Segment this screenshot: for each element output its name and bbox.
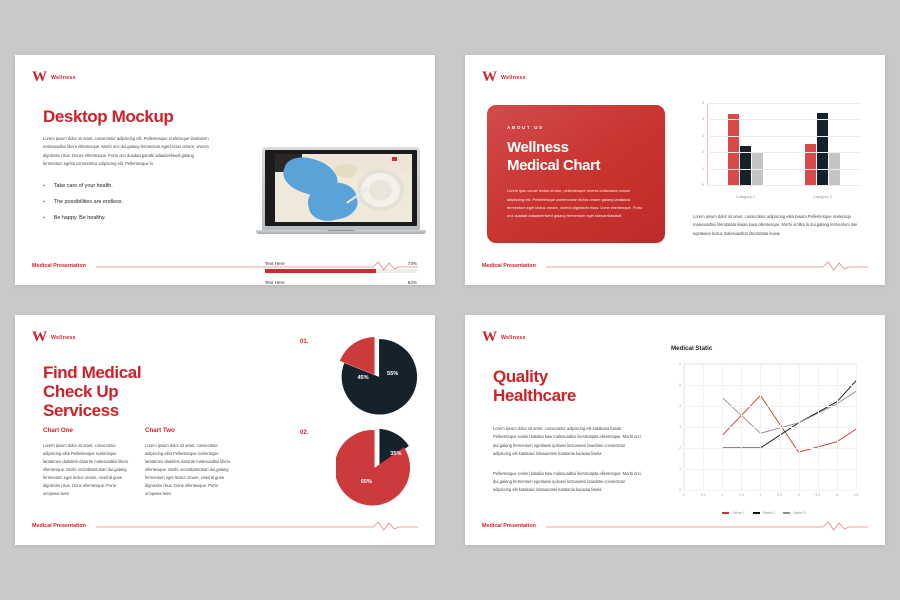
line-chart-y-tick: 3 — [679, 425, 681, 429]
bar-chart-gridline — [707, 103, 861, 104]
pie-chart-group: 01. 45% 55% 02. 65% — [300, 333, 425, 515]
bullet-label: Take care of your health. — [54, 183, 113, 189]
laptop-mockup — [262, 147, 420, 234]
line-chart-gridline — [703, 364, 704, 490]
photo-watermark — [392, 157, 397, 161]
bar-chart-gridline — [707, 152, 861, 153]
pie-chart-svg — [336, 335, 418, 417]
line-chart-x-tick: 0.5 — [701, 493, 706, 497]
chart-two-paragraph: Lorem ipsum dolor sit amet, consectetur … — [145, 442, 233, 498]
slide4-text-block: Lorem ipsum dolor sit amet, consectetur … — [493, 425, 643, 495]
brand-logo: W Wellness — [32, 70, 76, 85]
about-us-card: ABOUT US Wellness Medical Chart Lorem ip… — [487, 105, 665, 243]
brand-logo: W Wellness — [482, 330, 526, 345]
line-chart: Medical Static 012345600.511.522.533.544… — [665, 345, 863, 517]
slide-footer: Medical Presentation — [482, 521, 868, 531]
bar-chart-gridline — [707, 119, 861, 120]
bar-chart-category-labels: Category 1 Category 2 — [707, 194, 861, 199]
slide1-text-block: Desktop Mockup Lorem ipsum dolor sit ame… — [43, 107, 211, 169]
slide2-paragraph: Lorem ipsum dolor sit amet, consectetur … — [693, 213, 865, 238]
brand-logo: W Wellness — [482, 70, 526, 85]
bullet-label: Be happy. Be healthy. — [54, 215, 106, 221]
laptop-screen — [265, 150, 417, 226]
page-title: Quality Healthcare — [493, 367, 643, 405]
bullet-label: The possibilities are endless. — [54, 199, 123, 205]
legend-item: Series 2 — [753, 511, 775, 515]
bullet-dot-icon: • — [43, 199, 45, 205]
line-chart-y-tick: 0 — [679, 488, 681, 492]
legend-label: Series 3 — [793, 511, 805, 515]
legend-swatch — [783, 512, 790, 514]
heartbeat-icon — [96, 261, 418, 271]
chart-two-column: Chart Two Lorem ipsum dolor sit amet, co… — [145, 427, 233, 498]
line-chart-y-tick: 4 — [679, 404, 681, 408]
line-chart-gridline — [684, 364, 856, 365]
slide-footer: Medical Presentation — [32, 521, 418, 531]
pie-chart-svg — [336, 426, 418, 508]
progress-label: Text Here — [265, 280, 285, 285]
slide4-paragraph-2: Pellentesque sceleri katakia kaw malesua… — [493, 470, 643, 495]
title-line3: Servicess — [43, 401, 213, 420]
dental-lab-photo — [275, 154, 412, 222]
line-chart-gridline — [684, 448, 856, 449]
bar-chart-bar — [817, 113, 828, 185]
slide-footer: Medical Presentation — [482, 261, 868, 271]
logo-label: Wellness — [501, 335, 526, 341]
line-chart-gridline — [780, 364, 781, 490]
logo-label: Wellness — [501, 75, 526, 81]
pie-chart-block: 01. 45% 55% — [300, 333, 425, 419]
line-chart-gridline — [722, 364, 723, 490]
logo-mark-icon: W — [32, 70, 46, 85]
line-chart-y-tick: 6 — [679, 362, 681, 366]
laptop-lid — [262, 147, 420, 230]
slide-quality-healthcare[interactable]: W Wellness Quality Healthcare Lorem ipsu… — [465, 315, 885, 545]
line-chart-gridline — [684, 364, 685, 490]
bar-chart-y-tick: 5 — [702, 101, 704, 105]
list-item: • Be happy. Be healthy. — [43, 215, 223, 221]
title-line2: Check Up — [43, 382, 213, 401]
chart-two-heading: Chart Two — [145, 427, 233, 434]
chart-one-column: Chart One Lorem ipsum dolor sit amet, co… — [43, 427, 131, 498]
logo-label: Wellness — [51, 335, 76, 341]
line-chart-gridline — [684, 469, 856, 470]
slide-footer: Medical Presentation — [32, 261, 418, 271]
bullet-list: • Take care of your health. • The possib… — [43, 183, 223, 231]
bar-chart-group — [805, 103, 840, 185]
about-title-line2: Medical Chart — [507, 157, 645, 175]
pie-chart: 65% 35% — [336, 426, 418, 508]
line-chart-y-tick: 2 — [679, 446, 681, 450]
bullet-dot-icon: • — [43, 183, 45, 189]
page-title: Desktop Mockup — [43, 107, 211, 126]
bar-chart-groups — [707, 103, 861, 185]
line-chart-gridline — [837, 364, 838, 490]
bar-chart-bar — [805, 144, 816, 185]
laptop-base — [256, 230, 426, 234]
heartbeat-icon — [96, 521, 418, 531]
line-chart-x-tick: 1 — [721, 493, 723, 497]
chart-one-paragraph: Lorem ipsum dolor sit amet, consectetur … — [43, 442, 131, 498]
bar-chart-category: Category 1 — [736, 194, 755, 199]
line-chart-gridline — [741, 364, 742, 490]
footer-label: Medical Presentation — [482, 263, 536, 269]
page-title: Find Medical Check Up Servicess — [43, 363, 213, 420]
line-chart-x-tick: 0 — [683, 493, 685, 497]
bar-chart: 543210 Category 1 Category 2 — [693, 97, 865, 205]
list-item: • Take care of your health. — [43, 183, 223, 189]
chart-description-columns: Chart One Lorem ipsum dolor sit amet, co… — [43, 427, 233, 498]
footer-label: Medical Presentation — [32, 523, 86, 529]
line-chart-gridline — [684, 490, 856, 491]
line-chart-x-tick: 1.5 — [739, 493, 744, 497]
slide4-paragraph-1: Lorem ipsum dolor sit amet, consectetur … — [493, 425, 643, 459]
line-chart-y-tick: 1 — [679, 467, 681, 471]
pie-label: 55% — [387, 371, 398, 377]
line-chart-y-tick: 5 — [679, 383, 681, 387]
pie-chart-block: 02. 65% 35% — [300, 424, 425, 510]
bar-chart-plot: 543210 — [707, 103, 861, 185]
chart-one-heading: Chart One — [43, 427, 131, 434]
legend-label: Series 1 — [732, 511, 744, 515]
line-chart-gridline — [856, 364, 857, 490]
legend-label: Series 2 — [763, 511, 775, 515]
line-chart-gridline — [818, 364, 819, 490]
bar-chart-bar — [728, 114, 739, 185]
about-title-line1: Wellness — [507, 139, 645, 157]
bar-chart-y-tick: 2 — [702, 150, 704, 154]
line-chart-legend: Series 1 Series 2 Series 3 — [665, 511, 863, 515]
title-line2: Healthcare — [493, 386, 643, 405]
slide-desktop-mockup[interactable]: W Wellness Desktop Mockup Lorem ipsum do… — [15, 55, 435, 285]
bar-chart-group — [728, 103, 763, 185]
bar-chart-gridline — [707, 136, 861, 137]
title-line1: Quality — [493, 367, 643, 386]
pie-label: 35% — [390, 451, 401, 457]
bar-chart-gridline — [707, 169, 861, 170]
pie-label: 65% — [361, 479, 372, 485]
bar-chart-category: Category 2 — [813, 194, 832, 199]
title-line1: Find Medical — [43, 363, 213, 382]
line-chart-gridline — [684, 427, 856, 428]
page-title: Wellness Medical Chart — [507, 139, 645, 174]
pie-chart: 45% 55% — [336, 335, 418, 417]
logo-mark-icon: W — [482, 70, 496, 85]
slide-deck: W Wellness Desktop Mockup Lorem ipsum do… — [0, 0, 900, 600]
legend-swatch — [722, 512, 729, 514]
line-chart-title: Medical Static — [671, 345, 863, 352]
line-chart-plot: 012345600.511.522.533.544.5 — [683, 363, 857, 491]
slide1-paragraph: Lorem ipsum dolor sit amet, consectetur … — [43, 135, 211, 169]
bar-chart-y-tick: 1 — [702, 167, 704, 171]
bar-chart-y-tick: 3 — [702, 134, 704, 138]
heartbeat-icon — [546, 521, 868, 531]
footer-label: Medical Presentation — [32, 263, 86, 269]
bar-chart-gridline — [707, 185, 861, 186]
logo-mark-icon: W — [32, 330, 46, 345]
about-paragraph: Lorem ipsu conse lectus ornare, pellente… — [507, 187, 645, 220]
list-item: • The possibilities are endless. — [43, 199, 223, 205]
bar-chart-y-tick: 0 — [702, 183, 704, 187]
heartbeat-icon — [546, 261, 868, 271]
line-chart-x-tick: 4.5 — [854, 493, 859, 497]
footer-label: Medical Presentation — [482, 523, 536, 529]
legend-item: Series 3 — [783, 511, 805, 515]
line-chart-x-tick: 3 — [798, 493, 800, 497]
logo-mark-icon: W — [482, 330, 496, 345]
line-chart-gridline — [684, 385, 856, 386]
line-chart-x-tick: 2 — [759, 493, 761, 497]
line-chart-gridline — [684, 406, 856, 407]
pie-label: 45% — [357, 375, 368, 381]
line-chart-gridline — [760, 364, 761, 490]
bar-chart-y-tick: 4 — [702, 117, 704, 121]
pie-chart-number: 02. — [300, 430, 308, 436]
line-chart-x-tick: 2.5 — [777, 493, 782, 497]
logo-label: Wellness — [51, 75, 76, 81]
progress-value: 82% — [408, 280, 417, 285]
line-chart-gridline — [799, 364, 800, 490]
pie-chart-number: 01. — [300, 339, 308, 345]
line-chart-x-tick: 4 — [836, 493, 838, 497]
progress-row: Text Here 82% — [265, 280, 417, 285]
about-kicker: ABOUT US — [507, 125, 645, 130]
line-chart-x-tick: 3.5 — [815, 493, 820, 497]
bullet-dot-icon: • — [43, 215, 45, 221]
slide-find-medical-checkup[interactable]: W Wellness Find Medical Check Up Service… — [15, 315, 435, 545]
legend-swatch — [753, 512, 760, 514]
slide-wellness-medical-chart[interactable]: W Wellness ABOUT US Wellness Medical Cha… — [465, 55, 885, 285]
brand-logo: W Wellness — [32, 330, 76, 345]
legend-item: Series 1 — [722, 511, 744, 515]
